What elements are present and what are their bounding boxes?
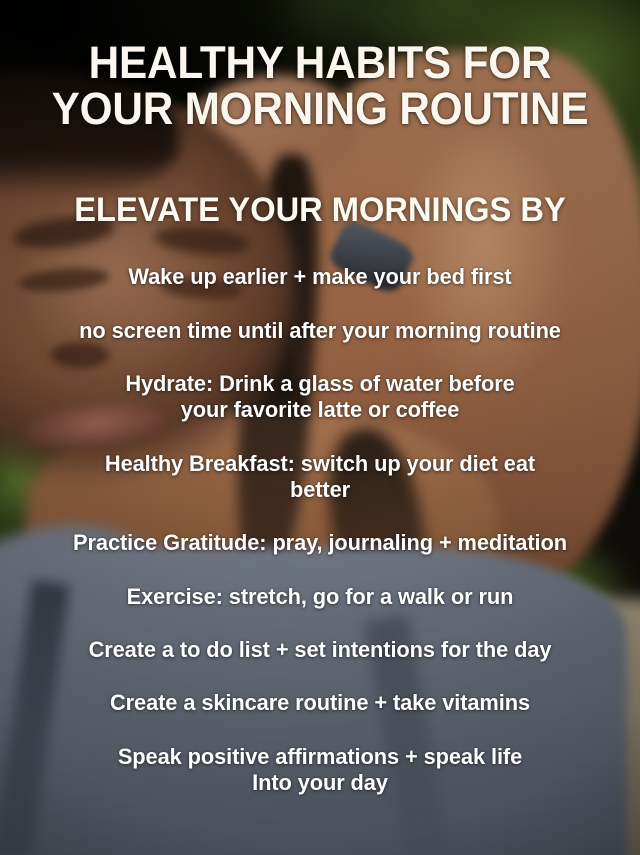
page-title: HEALTHY HABITS FOR YOUR MORNING ROUTINE: [19, 40, 621, 132]
habit-line: better: [23, 477, 617, 503]
page-title-line-1: HEALTHY HABITS FOR: [29, 40, 612, 86]
habit-item: Speak positive affirmations + speak life…: [10, 744, 631, 797]
text-overlay: HEALTHY HABITS FOR YOUR MORNING ROUTINE …: [0, 0, 640, 855]
habit-item: Healthy Breakfast: switch up your diet e…: [10, 451, 631, 504]
habit-item: Practice Gratitude: pray, journaling + m…: [10, 530, 631, 556]
habit-item: Exercise: stretch, go for a walk or run: [10, 584, 631, 610]
page-subtitle: ELEVATE YOUR MORNINGS BY: [13, 193, 627, 229]
habit-line: your favorite latte or coffee: [23, 397, 617, 423]
habit-line: Into your day: [23, 770, 617, 796]
habit-line: Practice Gratitude: pray, journaling + m…: [23, 530, 617, 556]
habit-line: Speak positive affirmations + speak life: [23, 744, 617, 770]
habits-list: Wake up earlier + make your bed first no…: [0, 264, 640, 796]
habit-line: Create a to do list + set intentions for…: [23, 637, 617, 663]
page-title-line-2: YOUR MORNING ROUTINE: [29, 86, 612, 132]
habit-item: Create a to do list + set intentions for…: [10, 637, 631, 663]
habit-line: no screen time until after your morning …: [23, 318, 617, 344]
infographic-canvas: HEALTHY HABITS FOR YOUR MORNING ROUTINE …: [0, 0, 640, 855]
habit-item: Wake up earlier + make your bed first: [10, 264, 631, 290]
habit-item: Hydrate: Drink a glass of water before y…: [10, 371, 631, 424]
habit-line: Create a skincare routine + take vitamin…: [23, 690, 617, 716]
habit-item: no screen time until after your morning …: [10, 318, 631, 344]
habit-line: Healthy Breakfast: switch up your diet e…: [23, 451, 617, 477]
habit-item: Create a skincare routine + take vitamin…: [10, 690, 631, 716]
habit-line: Wake up earlier + make your bed first: [23, 264, 617, 290]
habit-line: Hydrate: Drink a glass of water before: [23, 371, 617, 397]
habit-line: Exercise: stretch, go for a walk or run: [23, 584, 617, 610]
